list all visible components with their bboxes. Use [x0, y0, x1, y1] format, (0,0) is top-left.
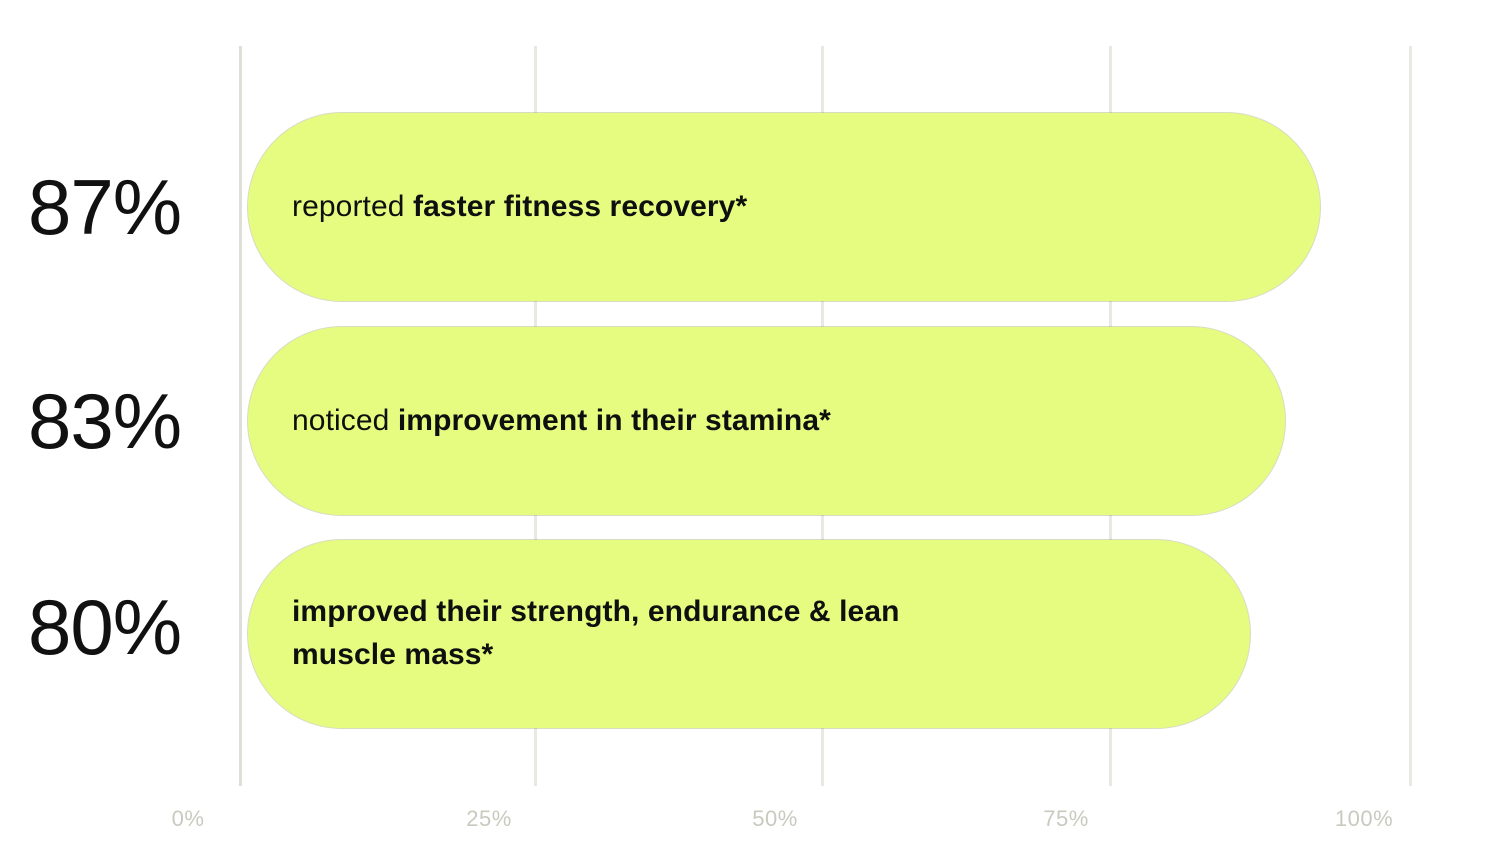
bar-row-3: improved their strength, endurance & lea…	[240, 540, 1410, 728]
plot-area: reported faster fitness recovery* notice…	[240, 46, 1410, 786]
bar-1-text: reported faster fitness recovery*	[248, 186, 787, 229]
bar-2-text-light: noticed	[292, 404, 398, 437]
bar-3: improved their strength, endurance & lea…	[248, 540, 1250, 728]
x-tick-label-100: 100%	[1335, 806, 1393, 832]
bar-2-text: noticed improvement in their stamina*	[248, 400, 871, 443]
x-tick-label-25: 25%	[466, 806, 512, 832]
bar-value-label-2: 83%	[28, 382, 224, 460]
x-tick-label-75: 75%	[1043, 806, 1089, 832]
bar-2: noticed improvement in their stamina*	[248, 327, 1285, 515]
bar-1-text-light: reported	[292, 190, 413, 223]
bar-2-text-bold: improvement in their stamina*	[398, 404, 831, 437]
bar-1: reported faster fitness recovery*	[248, 113, 1320, 301]
bar-1-text-bold: faster fitness recovery*	[413, 190, 747, 223]
x-tick-label-0: 0%	[172, 806, 205, 832]
bar-value-label-3: 80%	[28, 588, 224, 666]
bar-value-label-1: 87%	[28, 168, 224, 246]
survey-results-bar-chart: 87% 83% 80% reported faster fitness reco…	[0, 0, 1500, 856]
bar-row-1: reported faster fitness recovery*	[240, 113, 1410, 301]
bar-row-2: noticed improvement in their stamina*	[240, 327, 1410, 515]
bar-3-text: improved their strength, endurance & lea…	[248, 591, 940, 676]
x-tick-label-50: 50%	[752, 806, 798, 832]
